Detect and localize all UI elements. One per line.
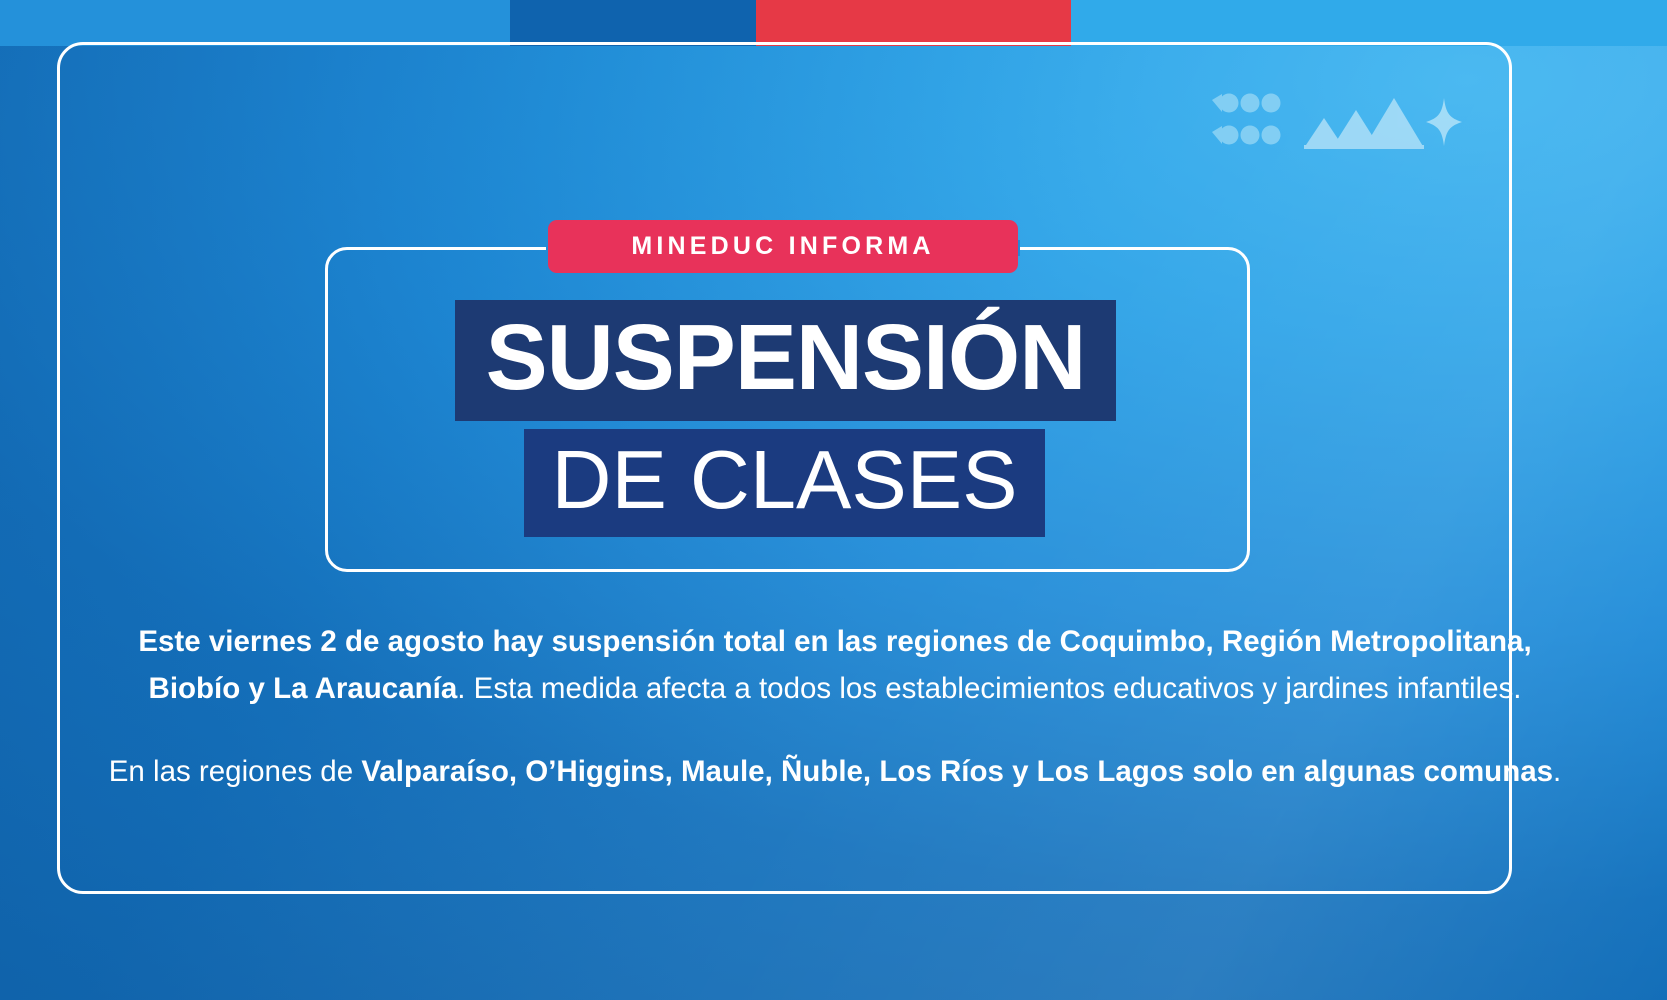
four-point-star-icon <box>1426 98 1462 146</box>
paragraph-2: En las regiones de Valparaíso, O’Higgins… <box>100 748 1570 795</box>
mountains-icon <box>1304 98 1424 149</box>
decoration-group <box>1212 92 1462 158</box>
paragraph-1: Este viernes 2 de agosto hay suspensión … <box>100 618 1570 712</box>
flag-segment-light-blue <box>0 0 510 46</box>
badge-label: MINEDUC INFORMA <box>631 232 934 261</box>
paragraph-2-bold: Valparaíso, O’Higgins, Maule, Ñuble, Los… <box>361 755 1553 788</box>
flag-color-bar <box>0 0 1667 46</box>
mineduc-informa-badge: MINEDUC INFORMA <box>548 220 1018 273</box>
title-line-suspension: SUSPENSIÓN <box>455 300 1117 421</box>
paragraph-2-regular-2: . <box>1553 755 1561 788</box>
title-block: SUSPENSIÓN DE CLASES <box>325 300 1250 550</box>
flag-segment-red <box>756 0 1071 46</box>
body-copy: Este viernes 2 de agosto hay suspensión … <box>100 618 1570 795</box>
flag-segment-sky <box>1071 0 1667 46</box>
poster-canvas: MINEDUC INFORMA SUSPENSIÓN DE CLASES Est… <box>0 0 1667 1000</box>
title-line-de-clases: DE CLASES <box>524 429 1046 537</box>
paragraph-2-regular-1: En las regiones de <box>109 755 362 788</box>
dots-grid-icon <box>1212 94 1281 145</box>
flag-segment-blue <box>510 0 756 46</box>
paragraph-1-regular: . Esta medida afecta a todos los estable… <box>457 672 1521 705</box>
